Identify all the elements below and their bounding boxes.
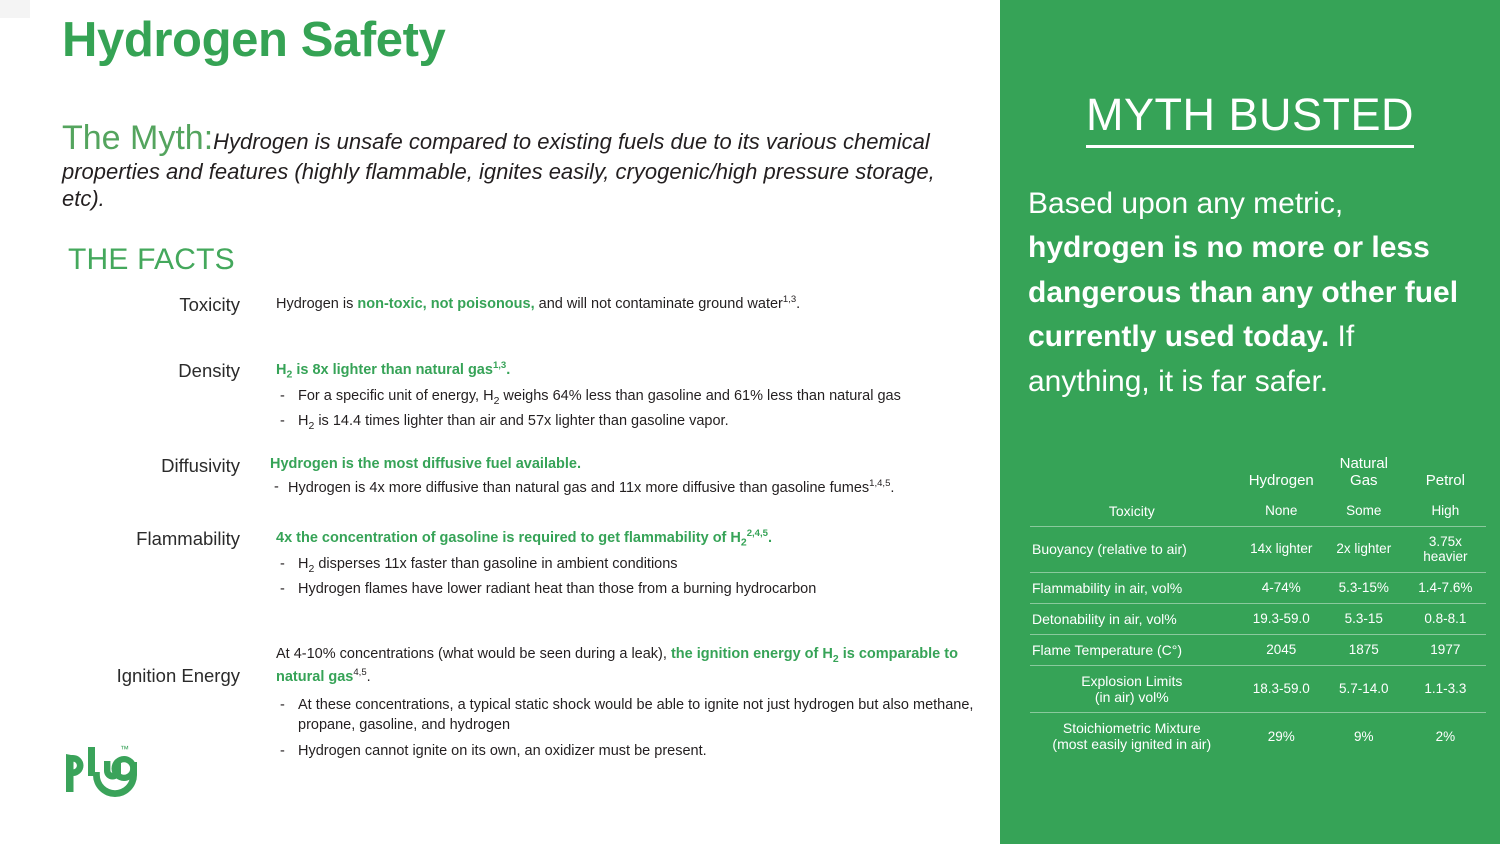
cell-stoich-hydrogen: 29% (1240, 713, 1323, 760)
list-item: Hydrogen cannot ignite on its own, an ox… (276, 741, 992, 761)
cell-flame-temp-petrol: 1977 (1405, 634, 1486, 665)
cell-stoich-natural-gas: 9% (1323, 713, 1405, 760)
fact-label-toxicity: Toxicity (0, 294, 240, 316)
density-bullets: For a specific unit of energy, H2 weighs… (276, 386, 992, 435)
ignition-lead-end: . (367, 669, 371, 685)
h2-sub: 2 (741, 538, 747, 549)
cell-flammability-hydrogen: 4-74% (1240, 572, 1323, 603)
density-citation: 1,3 (493, 360, 506, 371)
natural-gas-line2: Gas (1350, 472, 1378, 489)
toxicity-lead-post: and will not contaminate ground water (535, 296, 783, 312)
cell-flammability-petrol: 1.4-7.6% (1405, 572, 1486, 603)
slide-root: Hydrogen Safety The Myth:Hydrogen is uns… (0, 0, 1500, 844)
flammability-citation: 2,4,5 (747, 528, 768, 539)
density-b1-a: For a specific unit of energy, H (298, 388, 494, 404)
row-label-flame-temperature: Flame Temperature (C°) (1030, 634, 1240, 665)
fact-body-diffusivity: Hydrogen is the most diffusive fuel avai… (240, 455, 1000, 500)
list-item: At these concentrations, a typical stati… (276, 695, 992, 735)
fact-body-ignition-energy: At 4-10% concentrations (what would be s… (240, 645, 1000, 763)
fact-lead-density: H2 is 8x lighter than natural gas1,3. (276, 360, 992, 383)
toxicity-lead-pre: Hydrogen is (276, 296, 357, 312)
plug-logo: ™ (62, 742, 182, 800)
fact-row-density: Density H2 is 8x lighter than natural ga… (0, 360, 1000, 436)
table-corner-cell (1030, 452, 1240, 496)
cell-detonability-hydrogen: 19.3-59.0 (1240, 603, 1323, 634)
busted-body-bold: hydrogen is no more or less dangerous th… (1028, 231, 1458, 353)
trademark-symbol: ™ (120, 744, 129, 754)
cell-flame-temp-hydrogen: 2045 (1240, 634, 1323, 665)
buoyancy-petrol-line1: 3.75x (1429, 534, 1462, 549)
cell-detonability-petrol: 0.8-8.1 (1405, 603, 1486, 634)
table-row: Flame Temperature (C°) 2045 1875 1977 (1030, 634, 1486, 665)
fact-body-flammability: 4x the concentration of gasoline is requ… (240, 528, 1000, 601)
table-row: Detonability in air, vol% 19.3-59.0 5.3-… (1030, 603, 1486, 634)
fact-row-toxicity: Toxicity Hydrogen is non-toxic, not pois… (0, 294, 1000, 316)
cell-buoyancy-natural-gas: 2x lighter (1323, 526, 1405, 572)
cell-flame-temp-natural-gas: 1875 (1323, 634, 1405, 665)
explosion-limits-line1: Explosion Limits (1081, 673, 1182, 689)
flammability-lead-main: 4x the concentration of gasoline is requ… (276, 530, 741, 546)
list-item: H2 disperses 11x faster than gasoline in… (276, 554, 992, 577)
list-item: Hydrogen is 4x more diffusive than natur… (270, 477, 992, 498)
fact-body-density: H2 is 8x lighter than natural gas1,3. Fo… (240, 360, 1000, 436)
fact-row-diffusivity: Diffusivity Hydrogen is the most diffusi… (0, 455, 1000, 500)
myth-label: The Myth: (62, 119, 213, 157)
flammability-lead-end: . (768, 530, 772, 546)
diffusivity-bullets: Hydrogen is 4x more diffusive than natur… (270, 477, 992, 498)
myth-busted-title: MYTH BUSTED (1000, 92, 1500, 137)
explosion-limits-line2: (in air) vol% (1095, 689, 1169, 705)
diffusivity-b1: Hydrogen is 4x more diffusive than natur… (288, 480, 869, 496)
buoyancy-petrol-line2: heavier (1423, 549, 1467, 564)
row-label-detonability: Detonability in air, vol% (1030, 603, 1240, 634)
diffusivity-b1-end: . (890, 480, 894, 496)
ignition-bullets: At these concentrations, a typical stati… (276, 695, 992, 761)
flammability-b2: Hydrogen flames have lower radiant heat … (298, 581, 816, 597)
facts-heading: THE FACTS (68, 243, 235, 277)
fact-label-diffusivity: Diffusivity (0, 455, 240, 477)
cell-flammability-natural-gas: 5.3-15% (1323, 572, 1405, 603)
table-row: Explosion Limits(in air) vol% 18.3-59.0 … (1030, 666, 1486, 713)
stoich-line1: Stoichiometric Mixture (1063, 720, 1201, 736)
ignition-citation: 4,5 (353, 667, 366, 678)
myth-statement: The Myth:Hydrogen is unsafe compared to … (62, 118, 942, 213)
h2-sub: 2 (286, 370, 292, 381)
fact-row-flammability: Flammability 4x the concentration of gas… (0, 528, 1000, 601)
cell-buoyancy-petrol: 3.75xheavier (1405, 526, 1486, 572)
density-lead-end: . (506, 362, 510, 378)
fuel-comparison-table: Hydrogen NaturalGas Petrol Toxicity None… (1030, 452, 1486, 759)
page-title: Hydrogen Safety (62, 14, 445, 67)
density-b2-b: is 14.4 times lighter than air and 57x l… (314, 413, 728, 429)
facts-list: Toxicity Hydrogen is non-toxic, not pois… (0, 294, 1000, 763)
toxicity-lead-end: . (796, 296, 800, 312)
table-body: Toxicity None Some High Buoyancy (relati… (1030, 496, 1486, 760)
fact-label-ignition-energy: Ignition Energy (0, 645, 240, 687)
table-row: Buoyancy (relative to air) 14x lighter 2… (1030, 526, 1486, 572)
column-header-natural-gas: NaturalGas (1323, 452, 1405, 496)
density-lead-main: is 8x lighter than natural gas (296, 362, 493, 378)
corner-tint-decoration (0, 0, 30, 18)
row-label-buoyancy: Buoyancy (relative to air) (1030, 526, 1240, 572)
density-b1-b: weighs 64% less than gasoline and 61% le… (499, 388, 900, 404)
flammability-bullets: H2 disperses 11x faster than gasoline in… (276, 554, 992, 599)
cell-detonability-natural-gas: 5.3-15 (1323, 603, 1405, 634)
cell-explosion-natural-gas: 5.7-14.0 (1323, 666, 1405, 713)
fact-body-toxicity: Hydrogen is non-toxic, not poisonous, an… (240, 294, 1000, 314)
cell-toxicity-natural-gas: Some (1323, 496, 1405, 527)
flammability-b1-b: disperses 11x faster than gasoline in am… (314, 556, 677, 572)
fact-lead-ignition-energy: At 4-10% concentrations (what would be s… (276, 645, 992, 687)
cell-explosion-hydrogen: 18.3-59.0 (1240, 666, 1323, 713)
table-row: Flammability in air, vol% 4-74% 5.3-15% … (1030, 572, 1486, 603)
diffusivity-citation: 1,4,5 (869, 478, 890, 489)
toxicity-highlight: non-toxic, not poisonous, (357, 296, 534, 312)
left-content-pane: Hydrogen Safety The Myth:Hydrogen is uns… (0, 0, 1000, 844)
list-item: For a specific unit of energy, H2 weighs… (276, 386, 992, 409)
table-row: Toxicity None Some High (1030, 496, 1486, 527)
cell-toxicity-petrol: High (1405, 496, 1486, 527)
row-label-explosion-limits: Explosion Limits(in air) vol% (1030, 666, 1240, 713)
row-label-flammability: Flammability in air, vol% (1030, 572, 1240, 603)
row-label-stoichiometric-mixture: Stoichiometric Mixture(most easily ignit… (1030, 713, 1240, 760)
row-label-toxicity: Toxicity (1030, 496, 1240, 527)
cell-explosion-petrol: 1.1-3.3 (1405, 666, 1486, 713)
list-item: Hydrogen flames have lower radiant heat … (276, 579, 992, 599)
column-header-hydrogen: Hydrogen (1240, 452, 1323, 496)
natural-gas-line1: Natural (1340, 455, 1388, 472)
table-header-row: Hydrogen NaturalGas Petrol (1030, 452, 1486, 496)
list-item: H2 is 14.4 times lighter than air and 57… (276, 411, 992, 434)
fact-lead-toxicity: Hydrogen is non-toxic, not poisonous, an… (276, 294, 992, 314)
ignition-lead-pre: At 4-10% concentrations (what would be s… (276, 646, 671, 662)
table-row: Stoichiometric Mixture(most easily ignit… (1030, 713, 1486, 760)
fact-lead-diffusivity: Hydrogen is the most diffusive fuel avai… (270, 455, 992, 475)
cell-buoyancy-hydrogen: 14x lighter (1240, 526, 1323, 572)
table-header: Hydrogen NaturalGas Petrol (1030, 452, 1486, 496)
myth-busted-title-text: MYTH BUSTED (1086, 89, 1414, 148)
busted-body-part1: Based upon any metric, (1028, 187, 1343, 220)
ignition-highlight-a: the ignition energy of H (671, 646, 833, 662)
column-header-petrol: Petrol (1405, 452, 1486, 496)
fact-lead-flammability: 4x the concentration of gasoline is requ… (276, 528, 992, 551)
cell-stoich-petrol: 2% (1405, 713, 1486, 760)
cell-toxicity-hydrogen: None (1240, 496, 1323, 527)
toxicity-citation: 1,3 (783, 294, 796, 305)
fact-label-flammability: Flammability (0, 528, 240, 550)
fact-label-density: Density (0, 360, 240, 382)
myth-busted-body: Based upon any metric, hydrogen is no mo… (1028, 182, 1476, 404)
stoich-line2: (most easily ignited in air) (1052, 736, 1211, 752)
